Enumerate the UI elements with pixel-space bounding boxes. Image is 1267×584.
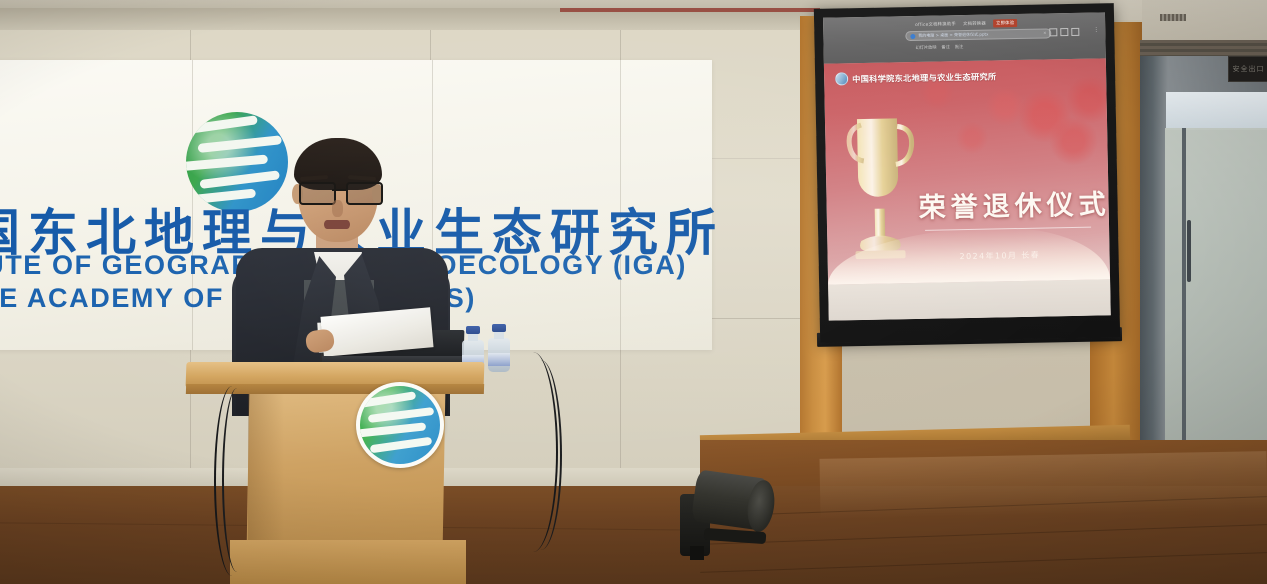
eyeglasses-icon bbox=[296, 182, 382, 201]
close-icon[interactable] bbox=[1071, 28, 1079, 36]
iga-globe-logo bbox=[356, 382, 444, 468]
equipment-cable bbox=[520, 360, 562, 550]
projection-screen-surface: office文档转换助手 文档转换器 立即体验 我的电脑 > 桌面 > 荣誉退休… bbox=[823, 12, 1111, 320]
minimize-icon[interactable] bbox=[1049, 28, 1057, 36]
frosted-glass-door[interactable] bbox=[1165, 128, 1267, 480]
podium-cable bbox=[222, 388, 252, 572]
wall-red-accent-line bbox=[560, 8, 820, 12]
ppt-file-icon bbox=[910, 33, 915, 38]
ppt-status-2[interactable]: 批注 bbox=[955, 44, 964, 50]
ppt-address-value: 我的电脑 > 桌面 > 荣誉退休仪式.pptx bbox=[918, 32, 988, 39]
ppt-tab-0[interactable]: office文档转换助手 bbox=[915, 21, 956, 28]
slide-header: 中国科学院东北地理与农业生态研究所 bbox=[835, 69, 997, 85]
podium-base bbox=[230, 540, 466, 584]
door-transom-window bbox=[1166, 92, 1267, 130]
speaker-nose bbox=[332, 200, 343, 217]
slide-title: 荣誉退休仪式 bbox=[918, 182, 1111, 225]
ppt-status-1[interactable]: 备注 bbox=[941, 44, 950, 50]
presentation-slide: 中国科学院东北地理与农业生态研究所 bbox=[824, 58, 1111, 320]
door-handle[interactable] bbox=[1187, 220, 1191, 282]
ceiling-vent bbox=[1160, 14, 1186, 21]
ppt-window-controls[interactable] bbox=[1049, 28, 1079, 37]
slide-footer-band bbox=[828, 279, 1111, 320]
close-icon[interactable]: × bbox=[1043, 30, 1046, 36]
door-mullion bbox=[1182, 128, 1186, 480]
cas-emblem-icon bbox=[835, 72, 848, 85]
stage-light bbox=[676, 472, 780, 558]
projection-screen: office文档转换助手 文档转换器 立即体验 我的电脑 > 桌面 > 荣誉退休… bbox=[814, 3, 1120, 343]
ppt-status-row: 幻灯片放映 备注 批注 bbox=[916, 44, 964, 51]
ppt-menu-icon[interactable]: ⋮ bbox=[1093, 26, 1099, 33]
podium-front-shading bbox=[248, 390, 284, 550]
slide-organization-label: 中国科学院东北地理与农业生态研究所 bbox=[852, 70, 997, 85]
stage-light-stand bbox=[690, 546, 704, 560]
ppt-status-0[interactable]: 幻灯片放映 bbox=[916, 45, 937, 51]
floor-reflection bbox=[820, 451, 1267, 519]
water-bottle bbox=[488, 324, 510, 372]
exit-sign: 安全出口 bbox=[1228, 56, 1267, 82]
maximize-icon[interactable] bbox=[1060, 28, 1068, 36]
speaker-mouth bbox=[324, 220, 350, 229]
photo-scene: 国东北地理与农业生态研究所 TUTE OF GEOGRAPHY AND AGRO… bbox=[0, 0, 1267, 584]
ppt-tab-2[interactable]: 立即体验 bbox=[993, 19, 1018, 27]
exit-sign-label: 安全出口 bbox=[1233, 64, 1265, 74]
ppt-tab-1[interactable]: 文档转换器 bbox=[963, 21, 986, 27]
